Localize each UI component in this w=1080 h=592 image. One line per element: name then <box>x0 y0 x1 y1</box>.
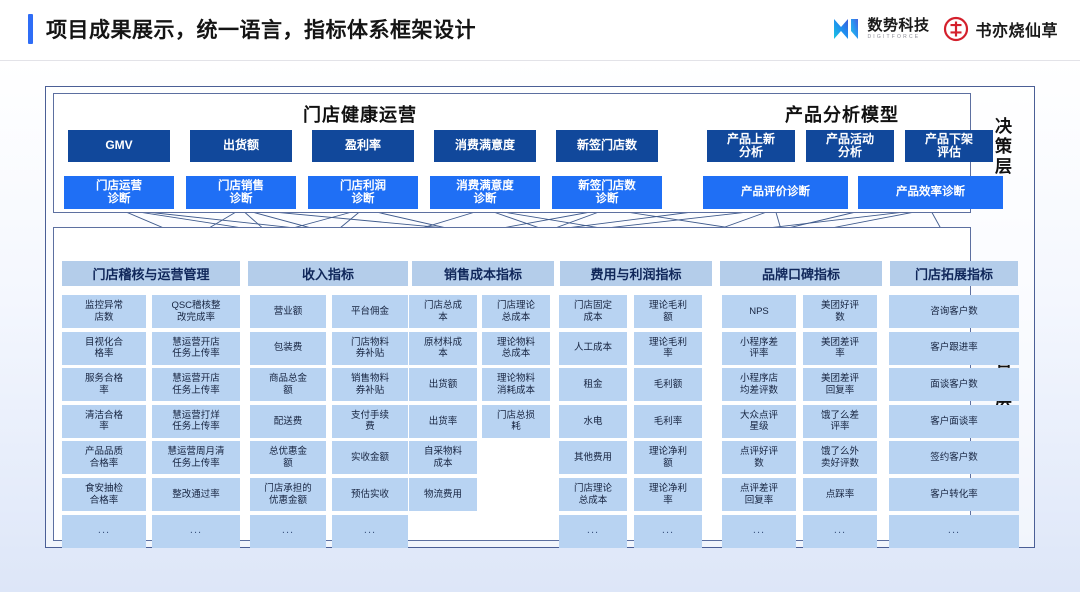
metric-cell[interactable]: ... <box>62 515 146 548</box>
metric-cell[interactable]: 门店物料券补贴 <box>332 332 408 365</box>
metric-cell[interactable]: NPS <box>722 295 796 328</box>
metric-cell[interactable]: 清洁合格率 <box>62 405 146 438</box>
metric-cell[interactable]: 平台佣金 <box>332 295 408 328</box>
metric-cell[interactable]: 签约客户数 <box>889 441 1019 474</box>
metric-cell[interactable]: 门店理论总成本 <box>559 478 627 511</box>
metric-cell[interactable]: 物流费用 <box>409 478 477 511</box>
kpi-box-0[interactable]: GMV <box>68 130 170 162</box>
metric-cell[interactable]: ... <box>634 515 702 548</box>
metric-cell[interactable]: 监控异常店数 <box>62 295 146 328</box>
metric-cell[interactable]: 饿了么差评率 <box>803 405 877 438</box>
metric-cell[interactable]: ... <box>250 515 326 548</box>
metric-cell[interactable]: 理论毛利额 <box>634 295 702 328</box>
metric-cell[interactable]: 预估实收 <box>332 478 408 511</box>
metric-cell[interactable]: 营业额 <box>250 295 326 328</box>
metric-cell[interactable]: 实收金额 <box>332 441 408 474</box>
metric-cell[interactable]: 其他费用 <box>559 441 627 474</box>
metric-cell[interactable]: 理论物料总成本 <box>482 332 550 365</box>
digitforce-name-cn: 数势科技 <box>867 18 929 33</box>
section-title-product-model: 产品分析模型 <box>785 101 899 127</box>
metric-cell[interactable]: 门店承担的优惠金额 <box>250 478 326 511</box>
metric-cell[interactable]: 自采物料成本 <box>409 441 477 474</box>
metric-cell[interactable]: 慧运营开店任务上传率 <box>152 368 240 401</box>
metric-cell[interactable]: 理论物料消耗成本 <box>482 368 550 401</box>
metric-cell[interactable]: 理论净利额 <box>634 441 702 474</box>
metric-cell[interactable]: 毛利额 <box>634 368 702 401</box>
group-header-3[interactable]: 费用与利润指标 <box>560 261 712 286</box>
metric-cell[interactable]: 支付手续费 <box>332 405 408 438</box>
metric-cell[interactable]: 小程序店均差评数 <box>722 368 796 401</box>
group-header-1[interactable]: 收入指标 <box>248 261 408 286</box>
diagnosis-box-4[interactable]: 新签门店数诊断 <box>552 176 662 209</box>
diagnosis-box-3[interactable]: 消费满意度诊断 <box>430 176 540 209</box>
metric-cell[interactable]: 美团好评数 <box>803 295 877 328</box>
metric-cell[interactable]: 门店总损耗 <box>482 405 550 438</box>
metric-cell[interactable]: 出货率 <box>409 405 477 438</box>
metric-cell[interactable]: 慧运营打烊任务上传率 <box>152 405 240 438</box>
metric-cell[interactable]: 客户跟进率 <box>889 332 1019 365</box>
metric-cell[interactable]: 饿了么外卖好评数 <box>803 441 877 474</box>
digitforce-name-en: DIGITFORCE <box>867 35 929 40</box>
shuyi-logo: 书亦烧仙草 <box>943 16 1058 42</box>
metric-cell[interactable]: 出货额 <box>409 368 477 401</box>
metric-cell[interactable]: 水电 <box>559 405 627 438</box>
kpi-box-4[interactable]: 新签门店数 <box>556 130 658 162</box>
kpi-box-1[interactable]: 出货额 <box>190 130 292 162</box>
metric-cell[interactable]: ... <box>889 515 1019 548</box>
digitforce-logo: 数势科技 DIGITFORCE <box>831 14 929 44</box>
section-title-store-health: 门店健康运营 <box>303 101 417 127</box>
metric-cell[interactable]: 理论净利率 <box>634 478 702 511</box>
metric-cell[interactable]: 配送费 <box>250 405 326 438</box>
metric-cell[interactable]: 咨询客户数 <box>889 295 1019 328</box>
group-header-2[interactable]: 销售成本指标 <box>412 261 554 286</box>
metric-cell[interactable]: 慧运营开店任务上传率 <box>152 332 240 365</box>
metric-cell[interactable]: ... <box>803 515 877 548</box>
metric-cell[interactable]: 点评好评数 <box>722 441 796 474</box>
metric-cell[interactable]: 毛利率 <box>634 405 702 438</box>
metric-cell[interactable]: 面谈客户数 <box>889 368 1019 401</box>
metric-cell[interactable]: 人工成本 <box>559 332 627 365</box>
diagnosis-box-6[interactable]: 产品效率诊断 <box>858 176 1003 209</box>
decision-layer-label: 决策层 <box>993 117 1010 177</box>
kpi-box-3[interactable]: 消费满意度 <box>434 130 536 162</box>
metric-cell[interactable]: 小程序差评率 <box>722 332 796 365</box>
page-header: 项目成果展示，统一语言，指标体系框架设计 数势科技 DIGITFORCE <box>0 0 1080 58</box>
diagnosis-box-1[interactable]: 门店销售诊断 <box>186 176 296 209</box>
group-header-0[interactable]: 门店稽核与运营管理 <box>62 261 240 286</box>
shuyi-name: 书亦烧仙草 <box>975 17 1058 41</box>
page-title: 项目成果展示，统一语言，指标体系框架设计 <box>46 14 476 44</box>
metric-cell[interactable]: 总优惠金额 <box>250 441 326 474</box>
metric-cell[interactable]: 商品总金额 <box>250 368 326 401</box>
metric-cell[interactable]: 理论毛利率 <box>634 332 702 365</box>
metric-cell[interactable]: 美团差评率 <box>803 332 877 365</box>
header-logos: 数势科技 DIGITFORCE 书亦烧仙草 <box>831 14 1058 44</box>
x-mark-icon <box>831 14 861 44</box>
metric-cell[interactable]: 食安抽检合格率 <box>62 478 146 511</box>
metric-cell[interactable]: 租金 <box>559 368 627 401</box>
group-header-5[interactable]: 门店拓展指标 <box>890 261 1018 286</box>
metric-cell[interactable]: 客户转化率 <box>889 478 1019 511</box>
metric-cell[interactable]: 原材料成本 <box>409 332 477 365</box>
metric-cell[interactable]: 目视化合格率 <box>62 332 146 365</box>
metric-cell[interactable]: ... <box>332 515 408 548</box>
title-accent-bar <box>28 14 33 44</box>
metric-cell[interactable]: 销售物料券补贴 <box>332 368 408 401</box>
metric-cell[interactable]: QSC稽核整改完成率 <box>152 295 240 328</box>
diagnosis-box-0[interactable]: 门店运营诊断 <box>64 176 174 209</box>
metric-cell[interactable]: ... <box>722 515 796 548</box>
metric-cell[interactable]: 服务合格率 <box>62 368 146 401</box>
metric-cell[interactable]: 点踩率 <box>803 478 877 511</box>
diagnosis-box-5[interactable]: 产品评价诊断 <box>703 176 848 209</box>
metric-cell[interactable]: 慧运营周月清任务上传率 <box>152 441 240 474</box>
metric-cell[interactable]: 大众点评星级 <box>722 405 796 438</box>
metric-cell[interactable]: ... <box>152 515 240 548</box>
diagram-canvas: 决策层 门店健康运营 产品分析模型 GMV出货额盈利率消费满意度新签门店数产品上… <box>0 61 1080 592</box>
metric-cell[interactable]: ... <box>559 515 627 548</box>
metric-cell[interactable]: 门店固定成本 <box>559 295 627 328</box>
metric-cell[interactable]: 整改通过率 <box>152 478 240 511</box>
group-header-4[interactable]: 品牌口碑指标 <box>720 261 882 286</box>
metric-cell[interactable]: 产品品质合格率 <box>62 441 146 474</box>
kpi-box-5[interactable]: 产品上新分析 <box>707 130 795 162</box>
kpi-box-2[interactable]: 盈利率 <box>312 130 414 162</box>
kpi-box-7[interactable]: 产品下架评估 <box>905 130 993 162</box>
metric-cell[interactable]: 门店总成本 <box>409 295 477 328</box>
metric-cell[interactable]: 门店理论总成本 <box>482 295 550 328</box>
diagnosis-box-2[interactable]: 门店利润诊断 <box>308 176 418 209</box>
metric-cell[interactable]: 客户面谈率 <box>889 405 1019 438</box>
metric-cell[interactable]: 点评差评回复率 <box>722 478 796 511</box>
circle-seal-icon <box>943 16 969 42</box>
metric-cell[interactable]: 包装费 <box>250 332 326 365</box>
kpi-box-6[interactable]: 产品活动分析 <box>806 130 894 162</box>
metric-cell[interactable]: 美团差评回复率 <box>803 368 877 401</box>
